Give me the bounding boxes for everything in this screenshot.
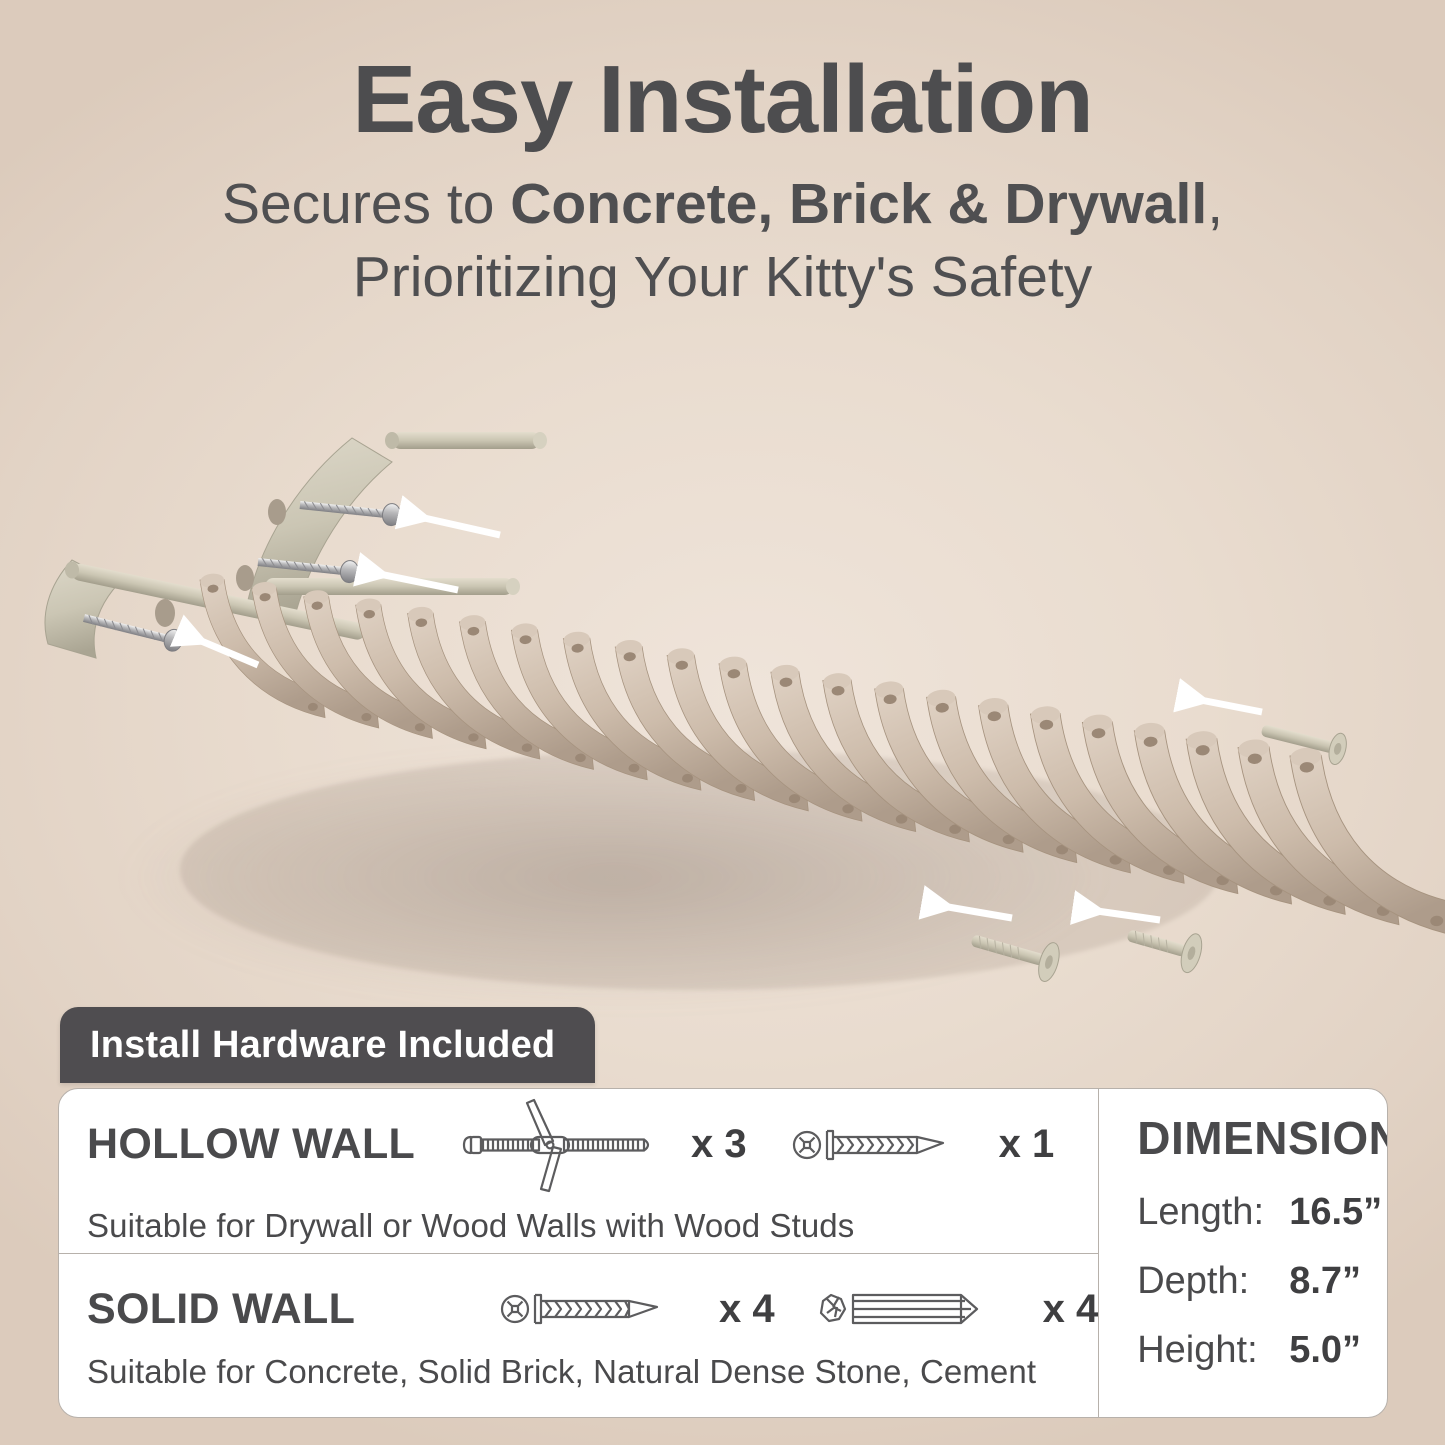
solid-wall-description: Suitable for Concrete, Solid Brick, Natu… xyxy=(87,1353,1098,1391)
hollow-wall-item-0: x 3 xyxy=(457,1097,747,1193)
subtitle-comma: , xyxy=(1207,172,1223,236)
solid-wall-item-0: x 4 xyxy=(499,1279,775,1339)
phillips-screw-icon xyxy=(791,1115,987,1175)
hollow-wall-label: HOLLOW WALL xyxy=(87,1120,457,1169)
dimensions-panel: DIMENSIONS Length: 16.5” Depth: 8.7” Hei… xyxy=(1098,1089,1388,1417)
install-hardware-tab: Install Hardware Included xyxy=(60,1007,595,1083)
dimension-label-length: Length: xyxy=(1137,1191,1289,1234)
arrow-left-icon xyxy=(1180,696,1262,712)
solid-wall-items: SOLID WALL x 4 xyxy=(87,1279,1098,1339)
phillips-screw-icon xyxy=(499,1279,707,1339)
page-subtitle: Secures to Concrete, Brick & Drywall, Pr… xyxy=(0,168,1445,314)
dimension-value-length: 16.5” xyxy=(1289,1191,1382,1234)
wall-anchor-icon xyxy=(813,1279,1031,1339)
dimension-row-length: Length: 16.5” xyxy=(1137,1191,1388,1234)
hollow-wall-item-1: x 1 xyxy=(791,1115,1055,1175)
solid-wall-qty-0: x 4 xyxy=(719,1287,775,1332)
product-illustration xyxy=(0,400,1445,1040)
hardware-columns: HOLLOW WALL xyxy=(59,1089,1098,1417)
hollow-wall-items: HOLLOW WALL xyxy=(87,1097,1098,1193)
page-title: Easy Installation xyxy=(0,48,1445,152)
solid-wall-label: SOLID WALL xyxy=(87,1285,457,1334)
toggle-bolt-icon xyxy=(457,1097,679,1193)
dimension-label-height: Height: xyxy=(1137,1329,1289,1372)
dimension-value-height: 5.0” xyxy=(1289,1329,1361,1372)
solid-wall-item-1: x 4 xyxy=(813,1279,1099,1339)
hollow-wall-qty-0: x 3 xyxy=(691,1122,747,1167)
hardware-row-hollow-wall: HOLLOW WALL xyxy=(59,1089,1098,1254)
dimensions-title: DIMENSIONS xyxy=(1137,1111,1388,1165)
dimension-value-depth: 8.7” xyxy=(1289,1260,1361,1303)
hardware-info-card: HOLLOW WALL xyxy=(58,1088,1388,1418)
hardware-row-solid-wall: SOLID WALL x 4 xyxy=(59,1254,1098,1418)
hollow-wall-description: Suitable for Drywall or Wood Walls with … xyxy=(87,1207,1098,1245)
slat xyxy=(1289,735,1445,950)
dimension-row-depth: Depth: 8.7” xyxy=(1137,1260,1388,1303)
hollow-wall-qty-1: x 1 xyxy=(999,1122,1055,1167)
subtitle-bold-part: Concrete, Brick & Drywall xyxy=(510,172,1207,236)
arrow-left-icon xyxy=(402,513,500,535)
dimension-row-height: Height: 5.0” xyxy=(1137,1329,1388,1372)
dimension-label-depth: Depth: xyxy=(1137,1260,1289,1303)
solid-wall-qty-1: x 4 xyxy=(1043,1287,1099,1332)
header-block: Easy Installation Secures to Concrete, B… xyxy=(0,48,1445,314)
subtitle-light-part: Secures to xyxy=(222,172,510,236)
subtitle-line-2: Prioritizing Your Kitty's Safety xyxy=(0,241,1445,314)
